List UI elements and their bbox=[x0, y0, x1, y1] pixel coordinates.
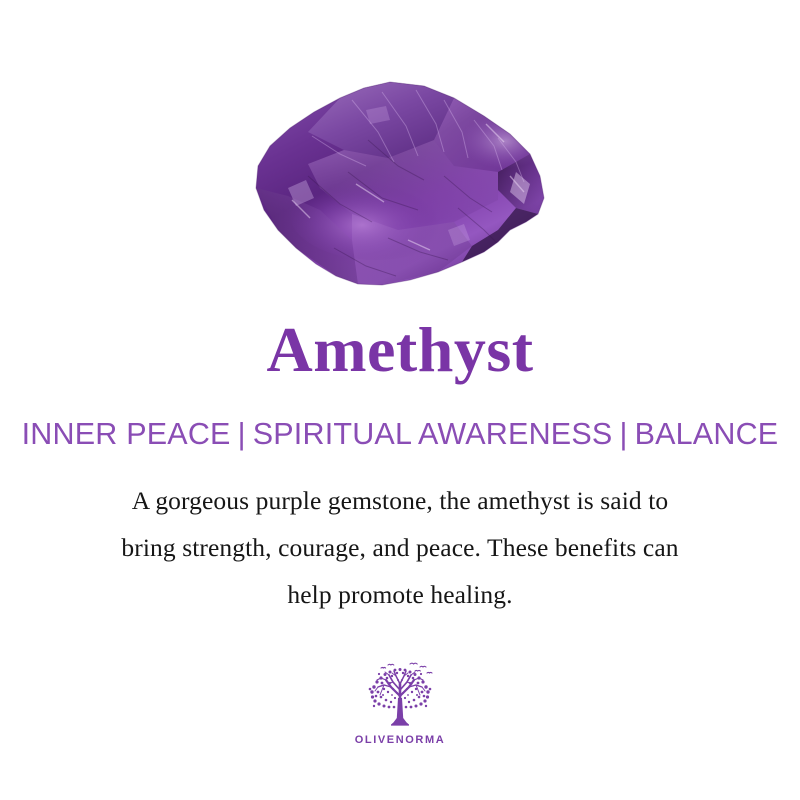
tree-icon bbox=[357, 662, 443, 732]
keyword-inner-peace: INNER PEACE bbox=[22, 417, 231, 451]
description-line-3: help promote healing. bbox=[40, 571, 760, 618]
hero-image-area bbox=[0, 0, 800, 318]
keyword-separator-1: | bbox=[231, 417, 253, 451]
keyword-list: INNER PEACE|SPIRITUAL AWARENESS|BALANCE bbox=[22, 419, 779, 450]
page-title: Amethyst bbox=[266, 318, 533, 382]
brand-name: OLIVENORMA bbox=[355, 734, 446, 746]
gemstone-illustration bbox=[248, 80, 554, 296]
keyword-separator-2: | bbox=[612, 417, 634, 451]
amethyst-gemstone-image bbox=[248, 80, 554, 296]
keyword-balance: BALANCE bbox=[635, 417, 779, 451]
brand-logo: OLIVENORMA bbox=[355, 662, 446, 746]
amethyst-product-card: Amethyst INNER PEACE|SPIRITUAL AWARENESS… bbox=[0, 0, 800, 800]
gem-body bbox=[248, 80, 554, 296]
description-text: A gorgeous purple gemstone, the amethyst… bbox=[40, 477, 760, 619]
description-line-1: A gorgeous purple gemstone, the amethyst… bbox=[40, 477, 760, 524]
keyword-spiritual-awareness: SPIRITUAL AWARENESS bbox=[253, 417, 613, 451]
description-line-2: bring strength, courage, and peace. Thes… bbox=[40, 524, 760, 571]
